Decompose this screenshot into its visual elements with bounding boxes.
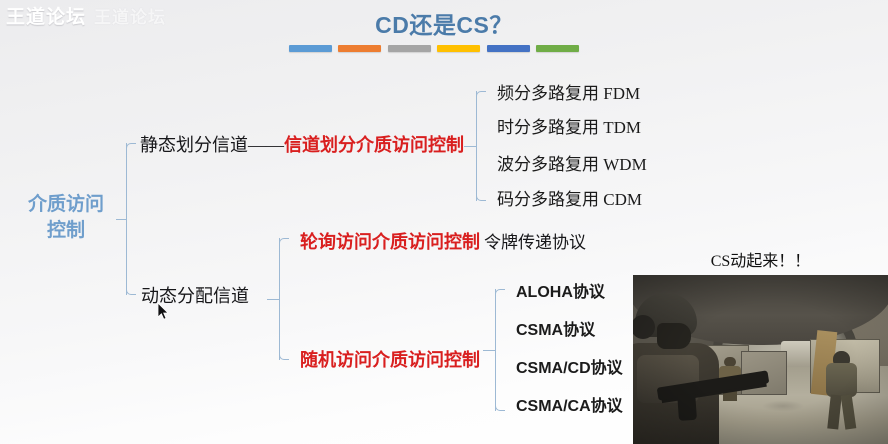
node-csma-cd-protocol: CSMA/CD协议 (516, 360, 623, 378)
node-tdm: 时分多路复用 TDM (497, 118, 641, 138)
connector-static-stem (464, 146, 476, 147)
node-aloha-protocol: ALOHA协议 (516, 284, 605, 302)
node-static-channel-division: 静态划分信道——信道划分介质访问控制 (140, 135, 464, 156)
counter-strike-screenshot (633, 275, 888, 444)
title-bar-1 (289, 45, 332, 52)
title-bar-5 (487, 45, 530, 52)
connector-dynamic-spine (279, 238, 280, 360)
connector-static-children (476, 91, 488, 201)
page-title: CD还是CS？ (0, 6, 888, 40)
node-csma-ca-protocol: CSMA/CA协议 (516, 398, 623, 416)
connector-root (126, 143, 138, 295)
node-static-channel-division-head: 静态划分信道—— (140, 135, 284, 155)
node-cdm: 码分多路复用 CDM (497, 190, 642, 210)
connector-root-top-cap (126, 143, 136, 153)
connector-random-children (495, 289, 507, 411)
title-underline-bars (289, 45, 579, 53)
title-bar-4 (437, 45, 480, 52)
connector-root-bottom-cap (126, 285, 136, 295)
connector-random-bottom-cap (495, 401, 505, 411)
node-wdm: 波分多路复用 WDM (497, 155, 647, 175)
connector-dynamic-bottom-cap (279, 350, 289, 360)
node-random-access-mac: 随机访问介质访问控制 (300, 350, 480, 371)
connector-dynamic-top-cap (279, 238, 289, 248)
connector-random-top-cap (495, 289, 505, 299)
connector-random-spine (495, 289, 496, 411)
root-node-label: 介质访问 控制 (14, 192, 118, 243)
node-static-channel-division-tail: 信道划分介质访问控制 (284, 135, 464, 155)
title-bar-6 (536, 45, 579, 52)
connector-static-spine (476, 91, 477, 201)
root-node-line2: 控制 (14, 218, 118, 244)
connector-dynamic-stem (267, 299, 279, 300)
scene-vignette (633, 275, 888, 444)
picture-caption: CS动起来！！ (633, 247, 888, 271)
connector-dynamic-children (279, 238, 291, 360)
connector-random-stem (483, 350, 495, 351)
connector-static-bottom-cap (476, 191, 486, 201)
connector-static-top-cap (476, 91, 486, 101)
title-bar-3 (388, 45, 431, 52)
node-polling-mac: 轮询访问介质访问控制 (300, 232, 480, 253)
connector-root-spine (126, 143, 127, 295)
node-fdm: 频分多路复用 FDM (497, 84, 640, 104)
mouse-cursor-icon (158, 303, 170, 321)
root-node-line1: 介质访问 (14, 192, 118, 218)
slide-canvas: 王道论坛王道论坛 CD还是CS？ 介质访问 控制 静态划分信道——信道划分介质访… (0, 0, 888, 444)
title-bar-2 (338, 45, 381, 52)
node-token-passing-protocol: 令牌传递协议 (484, 233, 586, 253)
node-csma-protocol: CSMA协议 (516, 322, 595, 340)
